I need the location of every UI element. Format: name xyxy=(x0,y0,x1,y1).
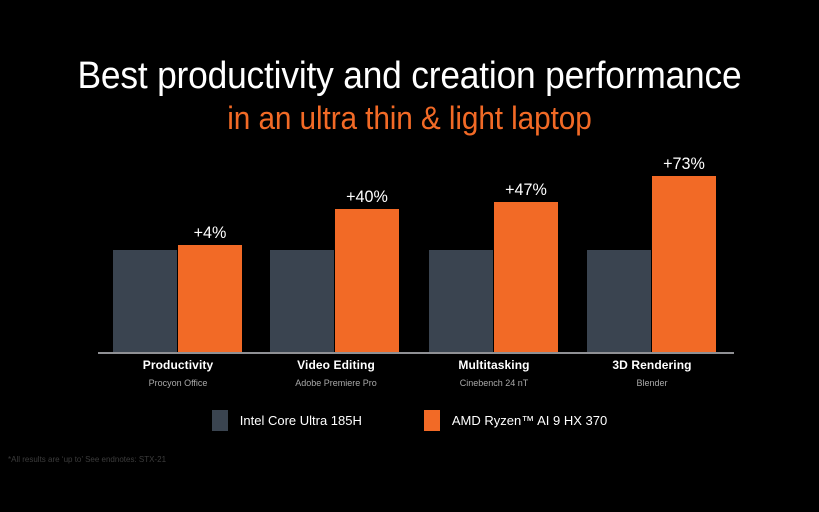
category-label-productivity: Productivity Procyon Office xyxy=(88,357,268,390)
footnote-disclaimer: *All results are ‘up to’ See endnotes: S… xyxy=(8,454,166,466)
bar-intel-productivity xyxy=(113,250,177,352)
bar-intel-multitasking xyxy=(429,250,493,352)
chart-plot-area: +4% +40% +47% +73% xyxy=(98,150,734,352)
legend-label-intel: Intel Core Ultra 185H xyxy=(240,412,362,430)
slide-canvas: Best productivity and creation performan… xyxy=(0,0,819,512)
bar-amd-3d-rendering xyxy=(652,176,716,352)
bar-intel-3d-rendering xyxy=(587,250,651,352)
category-title: Multitasking xyxy=(404,357,584,373)
headline-primary: Best productivity and creation performan… xyxy=(29,54,791,98)
chart-legend: Intel Core Ultra 185H AMD Ryzen™ AI 9 HX… xyxy=(0,410,819,431)
bar-amd-video-editing xyxy=(335,209,399,352)
bar-group-productivity: +4% xyxy=(113,150,242,352)
category-title: 3D Rendering xyxy=(562,357,742,373)
bar-group-video-editing: +40% xyxy=(270,150,399,352)
bar-value-label-3d-rendering: +73% xyxy=(654,154,715,174)
legend-label-amd: AMD Ryzen™ AI 9 HX 370 xyxy=(452,412,607,430)
bar-group-multitasking: +47% xyxy=(429,150,558,352)
headline-block: Best productivity and creation performan… xyxy=(0,54,819,138)
bar-group-3d-rendering: +73% xyxy=(587,150,716,352)
category-subtitle: Adobe Premiere Pro xyxy=(246,376,426,390)
category-subtitle: Blender xyxy=(562,376,742,390)
category-title: Productivity xyxy=(88,357,268,373)
legend-swatch-intel-icon xyxy=(212,410,228,431)
bar-chart: +4% +40% +47% +73% xyxy=(98,150,734,354)
bar-intel-video-editing xyxy=(270,250,334,352)
category-label-3d-rendering: 3D Rendering Blender xyxy=(562,357,742,390)
bar-value-label-video-editing: +40% xyxy=(337,187,398,207)
category-label-video-editing: Video Editing Adobe Premiere Pro xyxy=(246,357,426,390)
bar-value-label-productivity: +4% xyxy=(180,223,241,243)
bar-amd-productivity xyxy=(178,245,242,352)
category-label-multitasking: Multitasking Cinebench 24 nT xyxy=(404,357,584,390)
legend-item-intel: Intel Core Ultra 185H xyxy=(212,410,362,431)
category-axis-labels: Productivity Procyon Office Video Editin… xyxy=(98,357,734,397)
chart-baseline-axis xyxy=(98,352,734,354)
category-title: Video Editing xyxy=(246,357,426,373)
category-subtitle: Procyon Office xyxy=(88,376,268,390)
bar-amd-multitasking xyxy=(494,202,558,352)
category-subtitle: Cinebench 24 nT xyxy=(404,376,584,390)
headline-secondary: in an ultra thin & light laptop xyxy=(29,98,791,138)
legend-swatch-amd-icon xyxy=(424,410,440,431)
bar-value-label-multitasking: +47% xyxy=(496,180,557,200)
legend-item-amd: AMD Ryzen™ AI 9 HX 370 xyxy=(424,410,607,431)
